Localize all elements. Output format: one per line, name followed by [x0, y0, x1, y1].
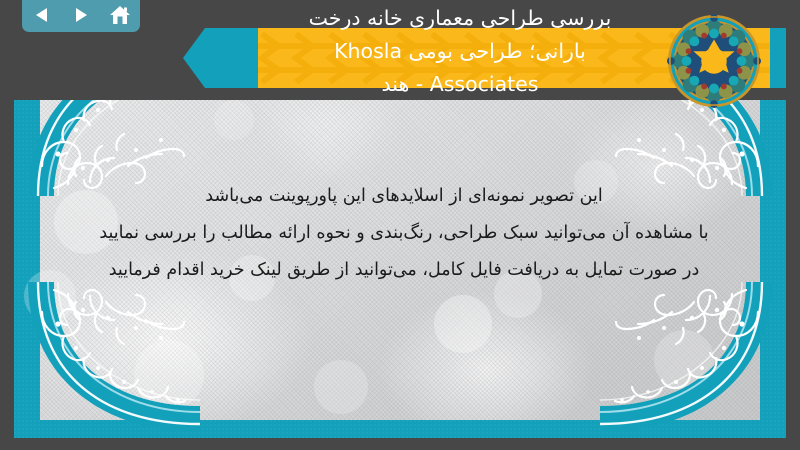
- title-line-1: بررسی طراحی معماری خانه درخت: [250, 2, 670, 35]
- home-icon: [109, 5, 131, 25]
- title-line-2: بارانی؛ طراحی بومی Khosla: [250, 35, 670, 68]
- next-slide-button[interactable]: [67, 3, 95, 27]
- body-line-3: در صورت تمایل به دریافت فایل کامل، می‌تو…: [54, 252, 754, 289]
- body-line-1: این تصویر نمونه‌ای از اسلایدهای این پاور…: [54, 178, 754, 215]
- previous-slide-button[interactable]: [28, 3, 56, 27]
- triangle-right-icon: [72, 6, 90, 24]
- slide-title: بررسی طراحی معماری خانه درخت بارانی؛ طرا…: [250, 2, 670, 102]
- triangle-left-icon: [33, 6, 51, 24]
- slide-body-text: این تصویر نمونه‌ای از اسلایدهای این پاور…: [54, 178, 754, 289]
- persian-medallion-icon: [665, 12, 763, 110]
- presentation-viewer: این تصویر نمونه‌ای از اسلایدهای این پاور…: [0, 0, 800, 450]
- home-button[interactable]: [106, 3, 134, 27]
- title-line-3: Associates - هند: [250, 68, 670, 101]
- body-line-2: با مشاهده آن می‌توانید سبک طراحی، رنگ‌بن…: [54, 215, 754, 252]
- slide-navigation-bar[interactable]: [22, 0, 140, 32]
